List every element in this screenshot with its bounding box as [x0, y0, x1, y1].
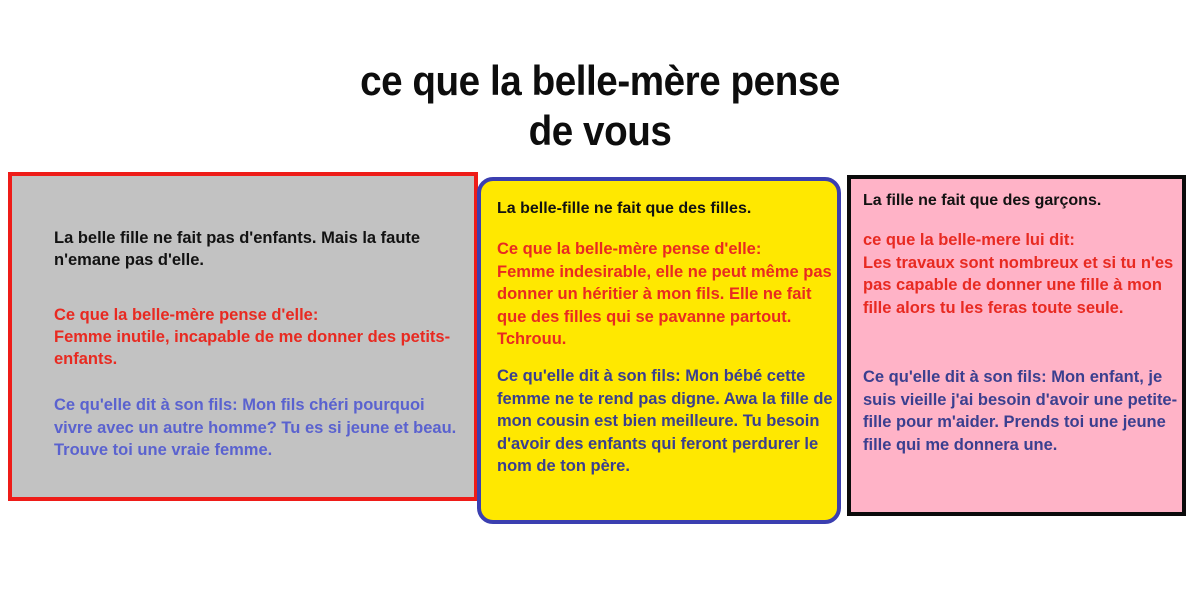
panel-only-daughters-heading: La belle-fille ne fait que des filles.: [497, 198, 837, 219]
panel-only-daughters: La belle-fille ne fait que des filles. C…: [477, 177, 841, 524]
panel-no-children-says: Ce qu'elle dit à son fils: Mon fils chér…: [54, 394, 466, 462]
panel-only-sons: La fille ne fait que des garçons. ce que…: [847, 175, 1186, 516]
panel-only-sons-heading: La fille ne fait que des garçons.: [863, 190, 1193, 211]
panel-only-daughters-thought: Ce que la belle-mère pense d'elle: Femme…: [497, 238, 845, 351]
panel-only-sons-thought: ce que la belle-mere lui dit: Les travau…: [863, 229, 1188, 319]
page-title: ce que la belle-mère pense de vous: [48, 56, 1152, 156]
panel-no-children-thought: Ce que la belle-mère pense d'elle: Femme…: [54, 304, 454, 370]
panel-no-children-heading: La belle fille ne fait pas d'enfants. Ma…: [54, 227, 454, 271]
panel-only-sons-says: Ce qu'elle dit à son fils: Mon enfant, j…: [863, 366, 1193, 456]
panel-no-children: La belle fille ne fait pas d'enfants. Ma…: [8, 172, 478, 501]
panel-only-daughters-says: Ce qu'elle dit à son fils: Mon bébé cett…: [497, 365, 857, 478]
